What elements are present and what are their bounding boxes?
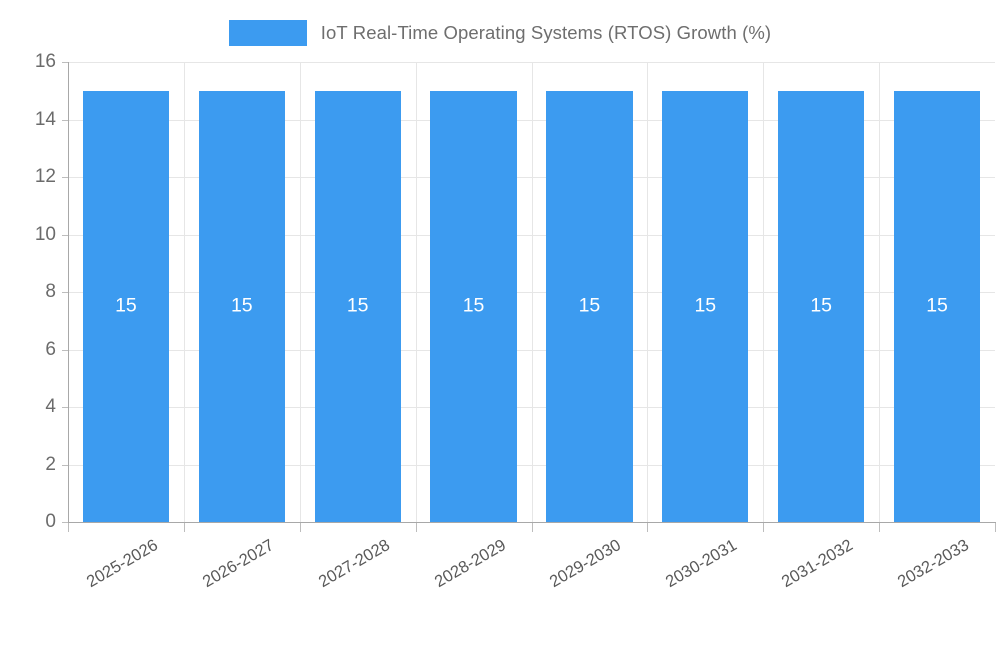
bar-value-label: 15 xyxy=(430,295,516,318)
x-tick-mark xyxy=(995,523,996,532)
bar-value-label: 15 xyxy=(662,295,748,318)
x-tick-mark xyxy=(300,523,301,532)
y-tick-label: 16 xyxy=(0,51,56,73)
bar-value-label: 15 xyxy=(778,295,864,318)
x-tick-mark xyxy=(68,523,69,532)
chart-legend: IoT Real-Time Operating Systems (RTOS) G… xyxy=(0,16,1000,50)
legend-item-rtos-growth[interactable]: IoT Real-Time Operating Systems (RTOS) G… xyxy=(229,20,771,46)
y-tick-label: 14 xyxy=(0,109,56,131)
bar-value-label: 15 xyxy=(894,295,980,318)
x-tick-mark xyxy=(879,523,880,532)
x-tick-mark xyxy=(763,523,764,532)
bar-value-label: 15 xyxy=(83,295,169,318)
x-tick-mark xyxy=(416,523,417,532)
x-axis-line xyxy=(68,522,996,523)
bar-chart: IoT Real-Time Operating Systems (RTOS) G… xyxy=(0,0,1000,600)
bar-value-label: 15 xyxy=(199,295,285,318)
x-tick-mark xyxy=(532,523,533,532)
y-tick-label: 4 xyxy=(0,396,56,418)
y-tick-label: 6 xyxy=(0,339,56,361)
legend-label: IoT Real-Time Operating Systems (RTOS) G… xyxy=(321,22,771,44)
y-tick-label: 0 xyxy=(0,511,56,533)
legend-color-swatch-icon xyxy=(229,20,307,46)
x-tick-label: 2025-2026 xyxy=(0,536,161,652)
x-tick-mark xyxy=(647,523,648,532)
y-tick-label: 12 xyxy=(0,166,56,188)
bar-value-label: 15 xyxy=(315,295,401,318)
y-tick-label: 10 xyxy=(0,224,56,246)
y-tick-label: 2 xyxy=(0,454,56,476)
x-tick-mark xyxy=(184,523,185,532)
bars-container: 1515151515151515 xyxy=(68,62,995,522)
y-tick-label: 8 xyxy=(0,281,56,303)
bar-value-label: 15 xyxy=(546,295,632,318)
